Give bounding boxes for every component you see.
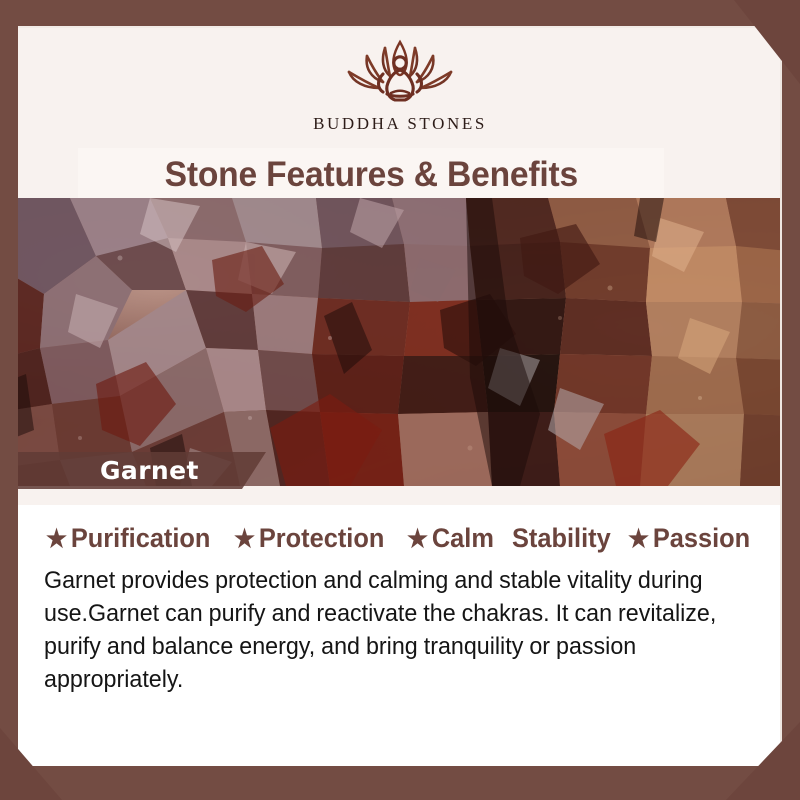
star-icon: ★ [46, 527, 67, 552]
page-surface: BUDDHA STONES Stone Features & Benefits [18, 26, 782, 766]
star-icon: ★ [628, 527, 649, 552]
brand-header: BUDDHA STONES [18, 26, 782, 148]
content-panel: ★ Purification ★ Protection ★ Calm ★ Sta… [18, 505, 782, 766]
stone-name-tab: Garnet [18, 452, 266, 489]
benefit-label: Stability [512, 523, 611, 554]
star-icon: ★ [407, 527, 428, 552]
stone-description: Garnet provides protection and calming a… [44, 564, 724, 696]
benefit-label: Calm [432, 523, 494, 554]
benefit-item-3: ★ Stability [512, 523, 611, 554]
benefit-label: Purification [71, 523, 211, 554]
poster-root: BUDDHA STONES Stone Features & Benefits [0, 0, 800, 800]
benefit-item-1: ★ Protection [234, 523, 384, 554]
benefit-item-0: ★ Purification [46, 523, 210, 554]
star-icon: ★ [234, 527, 255, 552]
benefit-item-4: ★ Passion [628, 523, 750, 554]
title-bar: Stone Features & Benefits [78, 148, 664, 202]
lotus-meditation-icon [325, 34, 475, 112]
benefit-item-2: ★ Calm [407, 523, 494, 554]
benefit-label: Protection [259, 523, 385, 554]
brand-name: BUDDHA STONES [313, 114, 487, 134]
garnet-crystal-cluster-photo [18, 198, 782, 486]
benefit-label: Passion [653, 523, 750, 554]
benefits-row: ★ Purification ★ Protection ★ Calm ★ Sta… [46, 523, 760, 554]
stone-name-label: Garnet [100, 456, 199, 485]
page-title: Stone Features & Benefits [164, 155, 577, 195]
